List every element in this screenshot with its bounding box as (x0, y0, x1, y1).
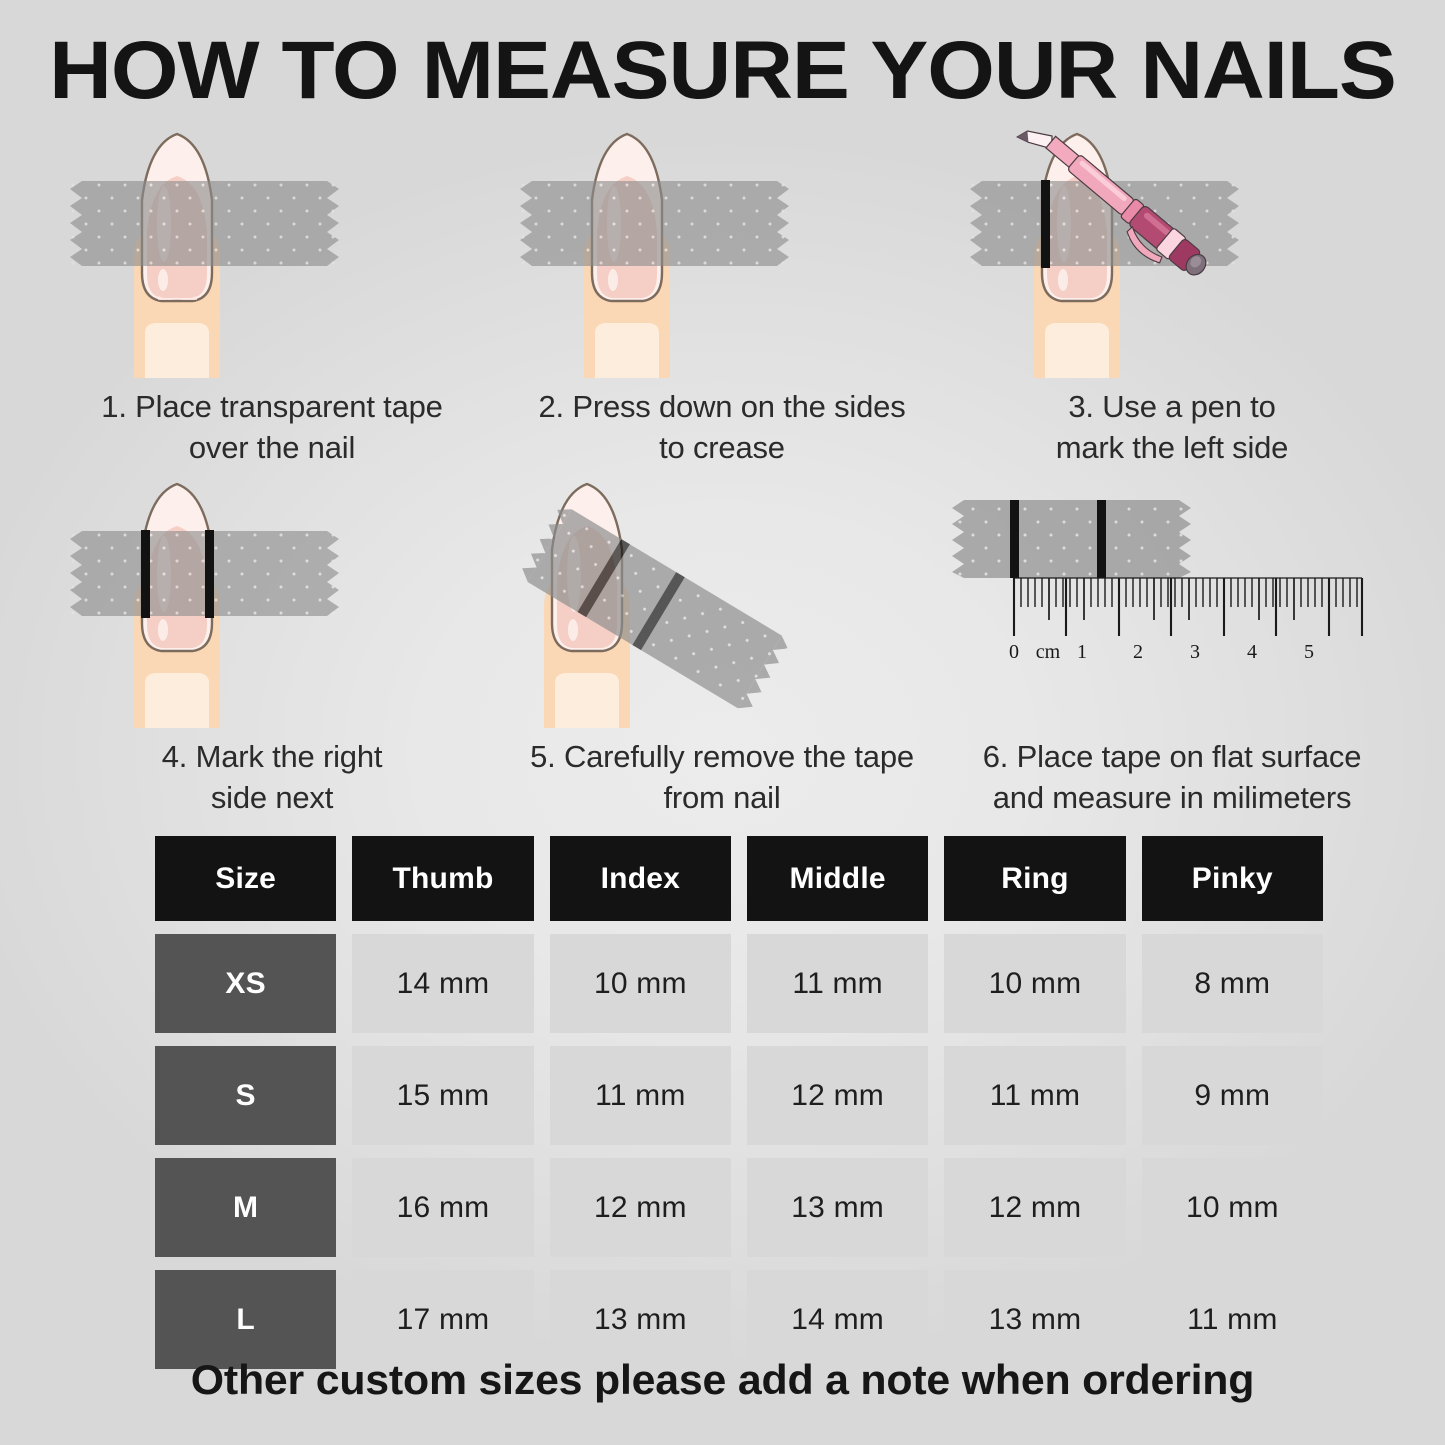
step-1-caption-line-2: over the nail (42, 427, 502, 468)
cell-xs-index: 10 mm (550, 934, 731, 1033)
step-3-caption-line-2: mark the left side (942, 427, 1402, 468)
ruler-tick-3: 3 (1190, 641, 1200, 663)
step-2-caption-line-1: 2. Press down on the sides (492, 386, 952, 427)
step-5-caption: 5. Carefully remove the tape from nail (492, 736, 952, 818)
infographic-poster: HOW TO MEASURE YOUR NAILS (0, 0, 1445, 1445)
step-6: 0 cm 1 2 3 4 5 6. Place tape on flat sur… (942, 478, 1402, 818)
step-1-caption-line-1: 1. Place transparent tape (42, 386, 502, 427)
ruler-tick-5: 5 (1304, 641, 1314, 663)
step-6-caption: 6. Place tape on flat surface and measur… (942, 736, 1402, 818)
step-2: 2. Press down on the sides to crease (492, 128, 952, 468)
step-6-caption-line-1: 6. Place tape on flat surface (942, 736, 1402, 777)
cell-s-thumb: 15 mm (352, 1046, 533, 1145)
size-label-s: S (155, 1046, 336, 1145)
step-5-caption-line-1: 5. Carefully remove the tape (492, 736, 952, 777)
mark-right (1097, 500, 1106, 578)
step-1-caption: 1. Place transparent tape over the nail (42, 386, 502, 468)
cell-xs-ring: 10 mm (944, 934, 1125, 1033)
step-4-caption-line-1: 4. Mark the right (42, 736, 502, 777)
table-row: XS 14 mm 10 mm 11 mm 10 mm 8 mm (155, 934, 1323, 1033)
mark-right (205, 530, 214, 618)
table-header-ring: Ring (944, 836, 1125, 921)
table-header-index: Index (550, 836, 731, 921)
tape-peeled-off-icon (492, 478, 952, 728)
mark-left (1010, 500, 1019, 578)
cell-s-ring: 11 mm (944, 1046, 1125, 1145)
step-2-illustration (492, 128, 952, 378)
step-2-caption-line-2: to crease (492, 427, 952, 468)
step-5-caption-line-2: from nail (492, 777, 952, 818)
cell-m-middle: 13 mm (747, 1158, 928, 1257)
step-4-illustration (42, 478, 502, 728)
cell-m-thumb: 16 mm (352, 1158, 533, 1257)
table-header-pinky: Pinky (1142, 836, 1323, 921)
mark-left (141, 530, 150, 618)
cell-s-middle: 12 mm (747, 1046, 928, 1145)
step-3: 3. Use a pen to mark the left side (942, 128, 1402, 468)
cell-xs-thumb: 14 mm (352, 934, 533, 1033)
step-3-caption: 3. Use a pen to mark the left side (942, 386, 1402, 468)
size-label-xs: XS (155, 934, 336, 1033)
step-5-illustration (492, 478, 952, 728)
table-row: S 15 mm 11 mm 12 mm 11 mm 9 mm (155, 1046, 1323, 1145)
step-5: 5. Carefully remove the tape from nail (492, 478, 952, 818)
ruler-labels: 0 cm 1 2 3 4 5 (1009, 641, 1314, 663)
ruler (1014, 578, 1362, 636)
mark-left (1041, 180, 1050, 268)
size-label-m: M (155, 1158, 336, 1257)
cell-s-pinky: 9 mm (1142, 1046, 1323, 1145)
finger-pen-mark-left-icon (942, 128, 1402, 378)
table-header-size: Size (155, 836, 336, 921)
step-4: 4. Mark the right side next (42, 478, 502, 818)
step-1-illustration (42, 128, 502, 378)
step-6-caption-line-2: and measure in milimeters (942, 777, 1402, 818)
cell-m-ring: 12 mm (944, 1158, 1125, 1257)
step-6-illustration: 0 cm 1 2 3 4 5 (942, 478, 1402, 728)
step-2-caption: 2. Press down on the sides to crease (492, 386, 952, 468)
table-header-row: Size Thumb Index Middle Ring Pinky (155, 836, 1323, 921)
finger-two-marks-icon (42, 478, 502, 728)
table-header-middle: Middle (747, 836, 928, 921)
ruler-tick-1: 1 (1077, 641, 1087, 663)
cell-s-index: 11 mm (550, 1046, 731, 1145)
ruler-tick-4: 4 (1247, 641, 1257, 663)
step-4-caption: 4. Mark the right side next (42, 736, 502, 818)
page-title: HOW TO MEASURE YOUR NAILS (0, 26, 1445, 116)
step-1: 1. Place transparent tape over the nail (42, 128, 502, 468)
ruler-tick-0: 0 (1009, 641, 1019, 663)
ruler-unit-label: cm (1036, 641, 1061, 663)
size-table: Size Thumb Index Middle Ring Pinky XS 14… (155, 836, 1323, 1369)
footer-note: Other custom sizes please add a note whe… (0, 1355, 1445, 1405)
ruler-tick-2: 2 (1133, 641, 1143, 663)
step-3-illustration (942, 128, 1402, 378)
cell-xs-middle: 11 mm (747, 934, 928, 1033)
finger-with-tape-icon (42, 128, 502, 378)
cell-m-index: 12 mm (550, 1158, 731, 1257)
step-3-caption-line-1: 3. Use a pen to (942, 386, 1402, 427)
finger-tape-creased-icon (492, 128, 952, 378)
table-header-thumb: Thumb (352, 836, 533, 921)
tape-on-ruler-icon: 0 cm 1 2 3 4 5 (942, 478, 1402, 728)
cell-m-pinky: 10 mm (1142, 1158, 1323, 1257)
cell-xs-pinky: 8 mm (1142, 934, 1323, 1033)
step-4-caption-line-2: side next (42, 777, 502, 818)
table-row: M 16 mm 12 mm 13 mm 12 mm 10 mm (155, 1158, 1323, 1257)
